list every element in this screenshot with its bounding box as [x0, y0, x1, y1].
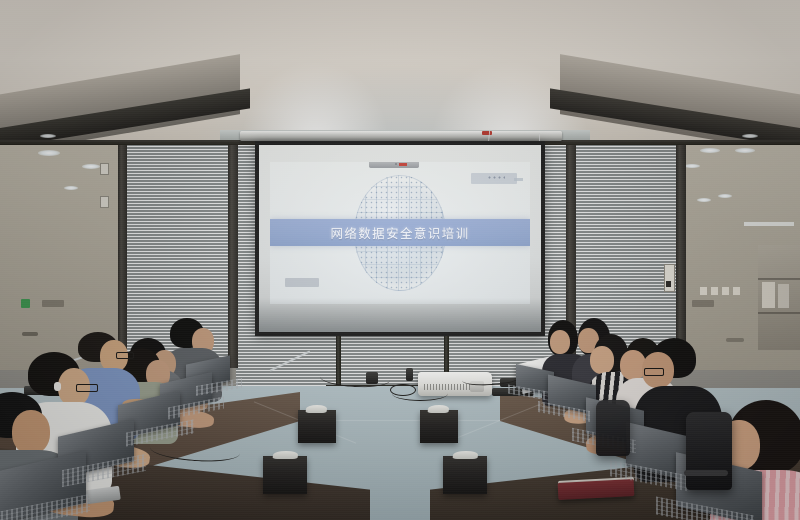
- door-handle-icon: [22, 332, 38, 336]
- adapter-block: [406, 368, 413, 381]
- tissue-box: [443, 456, 487, 494]
- projected-slide: 网络数据安全意识培训: [270, 162, 529, 304]
- wall-graphic-left: [42, 300, 64, 307]
- reflected-light-icon: [697, 198, 711, 202]
- reflected-light-icon: [700, 148, 720, 153]
- presentation-toolbar: [369, 162, 419, 168]
- tissue-box: [263, 456, 307, 494]
- screen-shadow: [259, 298, 541, 332]
- exit-sign-icon: [21, 299, 30, 308]
- wall-sensor-icon: [100, 196, 109, 208]
- slide-title-text: 网络数据安全意识培训: [330, 223, 469, 242]
- glasses-icon: [116, 352, 134, 359]
- wall-sensor-icon: [100, 163, 109, 175]
- wall-graphic-right: [692, 300, 714, 307]
- shelf-divider: [758, 278, 800, 280]
- door-handle-icon[interactable]: [726, 338, 744, 342]
- slide-logo-dots-icon: [487, 176, 505, 179]
- reflected-light-icon: [684, 164, 700, 168]
- earbud-icon: [54, 382, 61, 391]
- reflected-light-icon: [82, 164, 100, 169]
- meeting-room-photo: 网络数据安全意识培训: [0, 0, 800, 520]
- access-control-panel[interactable]: [664, 264, 675, 292]
- reflected-light-icon: [64, 186, 78, 190]
- reflected-light-icon: [718, 194, 732, 198]
- tissue-box: [420, 410, 458, 443]
- shelf-box: [778, 284, 789, 308]
- chair-armrest: [684, 470, 728, 476]
- shelf-divider: [758, 312, 800, 314]
- head: [590, 346, 614, 374]
- downlight-icon: [40, 134, 56, 138]
- window-mullion: [676, 140, 686, 368]
- office-chair: [686, 412, 732, 490]
- slide-placeholder-block: [285, 278, 319, 287]
- outlet-row-icon: [700, 287, 740, 295]
- tissue-box: [298, 410, 336, 443]
- access-control-reader-icon[interactable]: [666, 281, 671, 287]
- cable-coil: [390, 384, 416, 396]
- reflected-light-icon: [735, 148, 755, 153]
- office-chair: [596, 400, 630, 456]
- screen-surface: 网络数据安全意识培训: [259, 145, 541, 332]
- slide-logo-tail: [514, 178, 523, 181]
- glasses-icon: [644, 368, 664, 376]
- toolbar-record-icon: [399, 163, 407, 166]
- shelf-box: [762, 282, 775, 308]
- window-mullion: [228, 140, 238, 368]
- glasses-icon: [76, 384, 98, 392]
- head: [12, 410, 50, 454]
- window-mullion: [118, 140, 127, 370]
- slide-title-band: 网络数据安全意识培训: [270, 219, 529, 246]
- ceiling-strip-light-icon: [744, 222, 794, 226]
- downlight-icon: [742, 134, 758, 138]
- reflected-light-icon: [38, 150, 60, 156]
- head: [550, 330, 570, 354]
- projection-screen: 网络数据安全意识培训: [255, 141, 545, 336]
